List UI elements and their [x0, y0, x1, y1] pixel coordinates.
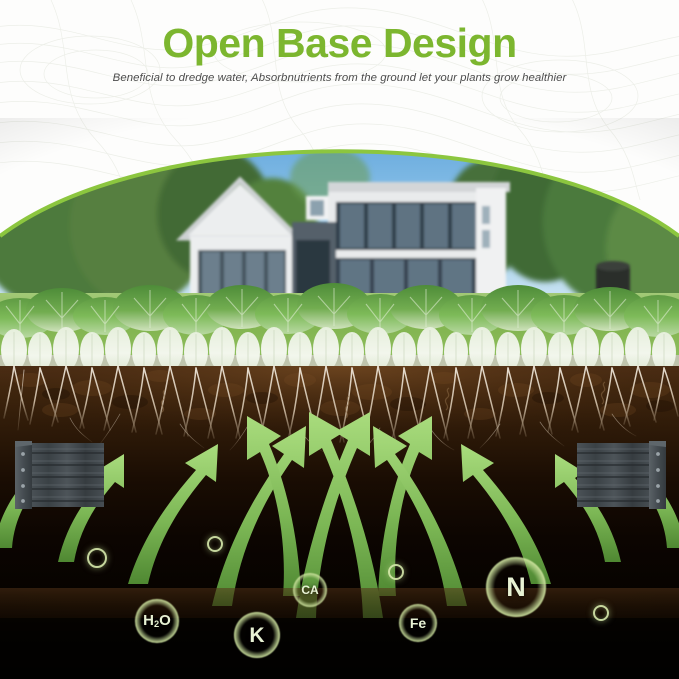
header: Open Base Design Beneficial to dredge wa…	[0, 0, 679, 130]
bubble-label: Fe	[410, 616, 426, 630]
page-subtitle: Beneficial to dredge water, Absorbnutrie…	[0, 72, 679, 84]
bubble-label: N	[506, 574, 526, 601]
nutrient-bubble-fe: Fe	[399, 604, 437, 642]
nutrient-bubble-ca: CA	[293, 573, 327, 607]
nutrient-bubble-layer: H2OKCAFeN	[0, 490, 679, 679]
empty-nutrient-ring-3	[388, 564, 404, 580]
empty-nutrient-ring-4	[593, 605, 609, 621]
nutrient-bubble-h2o: H2O	[135, 599, 179, 643]
page-title: Open Base Design	[0, 20, 679, 67]
bubble-label: K	[249, 625, 264, 646]
nutrient-bubble-k: K	[234, 612, 280, 658]
empty-nutrient-ring-2	[207, 536, 223, 552]
nutrient-bubble-n: N	[486, 557, 546, 617]
bubble-label: CA	[301, 584, 318, 596]
bubble-label: H2O	[143, 613, 171, 629]
infographic-stage: Open Base Design Beneficial to dredge wa…	[0, 0, 679, 679]
empty-nutrient-ring-1	[87, 548, 107, 568]
